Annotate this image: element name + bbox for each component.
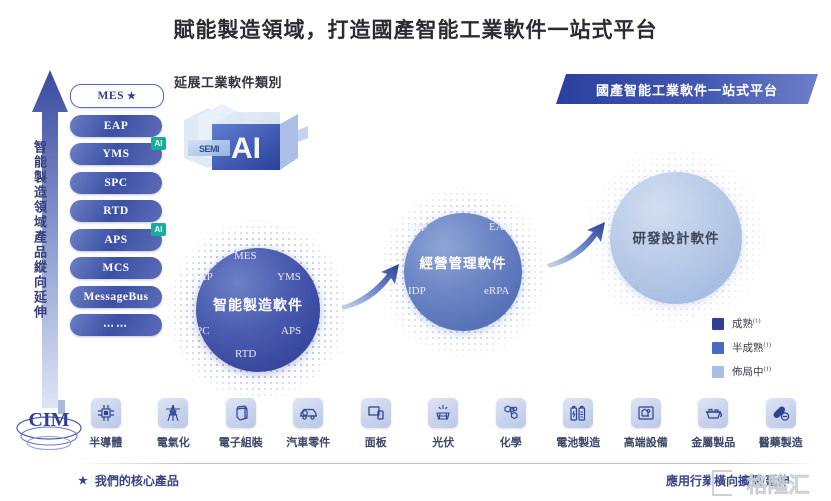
power-tower-icon bbox=[158, 398, 188, 428]
industry-label: 半導體 bbox=[89, 434, 122, 450]
cube-card-title: 延展工業軟件類別 bbox=[174, 72, 282, 91]
product-pill-eap[interactable]: EAP bbox=[70, 115, 162, 137]
product-pill-spc[interactable]: SPC bbox=[70, 172, 162, 194]
legend-item-mature: 成熟(1) bbox=[712, 316, 771, 331]
industry-label: 金屬製品 bbox=[691, 434, 735, 450]
product-pill-list: MES ★ EAP YMS AI SPC RTD APS AI MCS Mess… bbox=[70, 84, 164, 343]
legend-label-planning: 佈局中(1) bbox=[732, 364, 771, 379]
industry-label: 電子組裝 bbox=[219, 434, 263, 450]
industry-label: 高端設備 bbox=[624, 434, 668, 450]
product-pill-label: RTD bbox=[103, 205, 128, 217]
sphere-satellite-idp: IDP bbox=[408, 285, 426, 297]
vertical-axis-label: 智能製造領域產品縱向延伸 bbox=[20, 140, 46, 320]
industry-item-high-end-equipment[interactable]: 高端設備 bbox=[612, 398, 680, 462]
product-pill-yms[interactable]: YMS AI bbox=[70, 143, 162, 165]
sphere-satellite-eam: EAM bbox=[489, 221, 513, 233]
product-pill-aps[interactable]: APS AI bbox=[70, 229, 162, 251]
footer-divider bbox=[78, 463, 818, 464]
sphere-satellite-spc: SPC bbox=[190, 325, 210, 337]
industry-label: 電氣化 bbox=[157, 434, 190, 450]
core-product-note: ★ 我們的核心產品 bbox=[78, 472, 179, 489]
industry-label: 化學 bbox=[500, 434, 522, 450]
industry-item-electrification[interactable]: 電氣化 bbox=[140, 398, 208, 462]
industry-item-metal-products[interactable]: 金屬製品 bbox=[680, 398, 748, 462]
component-icon bbox=[226, 398, 256, 428]
industry-item-photovoltaic[interactable]: 光伏 bbox=[410, 398, 478, 462]
industry-item-semiconductor[interactable]: 半導體 bbox=[72, 398, 140, 462]
molecule-icon bbox=[496, 398, 526, 428]
product-pill-label: MES bbox=[98, 90, 124, 102]
sphere-satellite-mes: MES bbox=[234, 250, 257, 262]
industry-item-battery[interactable]: 電池製造 bbox=[545, 398, 613, 462]
ai-badge-icon: AI bbox=[151, 137, 166, 150]
industry-label: 面板 bbox=[365, 434, 387, 450]
industry-item-auto-parts[interactable]: 汽車零件 bbox=[275, 398, 343, 462]
curved-arrow-icon bbox=[545, 214, 611, 272]
pills-icon bbox=[766, 398, 796, 428]
maturity-legend: 成熟(1) 半成熟(1) 佈局中(1) bbox=[712, 316, 771, 388]
industry-item-electronics-assembly[interactable]: 電子組裝 bbox=[207, 398, 275, 462]
industry-strip: 半導體 電氣化 bbox=[72, 398, 816, 462]
industry-label: 汽車零件 bbox=[286, 434, 330, 450]
legend-swatch-semi-mature bbox=[712, 342, 724, 354]
platform-banner bbox=[556, 74, 818, 104]
sphere-satellite-erp: ERP bbox=[407, 222, 427, 234]
sphere-satellite-rtd: RTD bbox=[235, 348, 256, 360]
industry-item-pharmaceutical[interactable]: 醫藥製造 bbox=[747, 398, 815, 462]
ai-badge-icon: AI bbox=[151, 223, 166, 236]
star-icon: ★ bbox=[78, 474, 88, 487]
product-pill-label: APS bbox=[104, 234, 127, 246]
product-pill-mcs[interactable]: MCS bbox=[70, 257, 162, 279]
sphere-satellite-eap: EAP bbox=[192, 271, 213, 283]
metal-ladle-icon bbox=[698, 398, 728, 428]
core-star-icon: ★ bbox=[127, 91, 136, 102]
legend-label-semi-mature: 半成熟(1) bbox=[732, 340, 771, 355]
svg-text:AI: AI bbox=[231, 132, 261, 165]
product-pill-label: SPC bbox=[104, 177, 127, 189]
product-pill-label: ⋯⋯ bbox=[103, 319, 129, 332]
watermark: 格隆汇 bbox=[706, 466, 824, 501]
legend-swatch-mature bbox=[712, 318, 724, 330]
sphere-satellite-aps: APS bbox=[281, 325, 301, 337]
legend-label-mature: 成熟(1) bbox=[732, 316, 761, 331]
curved-arrow-icon bbox=[339, 256, 405, 314]
sphere-satellite-erpa: eRPA bbox=[484, 285, 509, 297]
industry-label: 醫藥製造 bbox=[759, 434, 803, 450]
machinery-icon bbox=[631, 398, 661, 428]
battery-icon bbox=[563, 398, 593, 428]
legend-item-semi-mature: 半成熟(1) bbox=[712, 340, 771, 355]
svg-text:SEMI: SEMI bbox=[199, 144, 219, 154]
core-product-note-label: 我們的核心產品 bbox=[95, 472, 179, 489]
slide-canvas: 賦能製造領域，打造國產智能工業軟件一站式平台 智能製造領域產品縱向延伸 MES … bbox=[0, 0, 831, 501]
industry-item-display-panel[interactable]: 面板 bbox=[342, 398, 410, 462]
product-pill-label: YMS bbox=[102, 148, 129, 160]
watermark-text: 格隆汇 bbox=[747, 473, 810, 497]
page-title: 賦能製造領域，打造國產智能工業軟件一站式平台 bbox=[0, 14, 831, 44]
legend-swatch-planning bbox=[712, 366, 724, 378]
product-pill-label: EAP bbox=[104, 120, 129, 132]
product-pill-label: MessageBus bbox=[83, 291, 148, 303]
chip-icon bbox=[91, 398, 121, 428]
product-pill-label: MCS bbox=[102, 262, 129, 274]
car-icon bbox=[293, 398, 323, 428]
sphere-label-smart-manufacturing: 智能製造軟件 bbox=[212, 295, 304, 315]
product-pill-more[interactable]: ⋯⋯ bbox=[70, 314, 162, 336]
sphere-satellite-yms: YMS bbox=[277, 271, 301, 283]
product-pill-mes[interactable]: MES ★ bbox=[70, 84, 164, 108]
industry-label: 電池製造 bbox=[556, 434, 600, 450]
industry-label: 光伏 bbox=[432, 434, 454, 450]
sphere-label-business-management: 經營管理軟件 bbox=[418, 252, 508, 272]
legend-item-planning: 佈局中(1) bbox=[712, 364, 771, 379]
sphere-label-rd-design: 研發設計軟件 bbox=[621, 227, 731, 247]
solar-panel-icon bbox=[428, 398, 458, 428]
svg-text:CIM: CIM bbox=[28, 409, 69, 431]
product-pill-rtd[interactable]: RTD bbox=[70, 200, 162, 222]
display-panel-icon bbox=[361, 398, 391, 428]
ai-cube-icon: AI SEMI bbox=[168, 96, 318, 184]
product-pill-messagebus[interactable]: MessageBus bbox=[70, 286, 162, 308]
industry-item-chemistry[interactable]: 化學 bbox=[477, 398, 545, 462]
